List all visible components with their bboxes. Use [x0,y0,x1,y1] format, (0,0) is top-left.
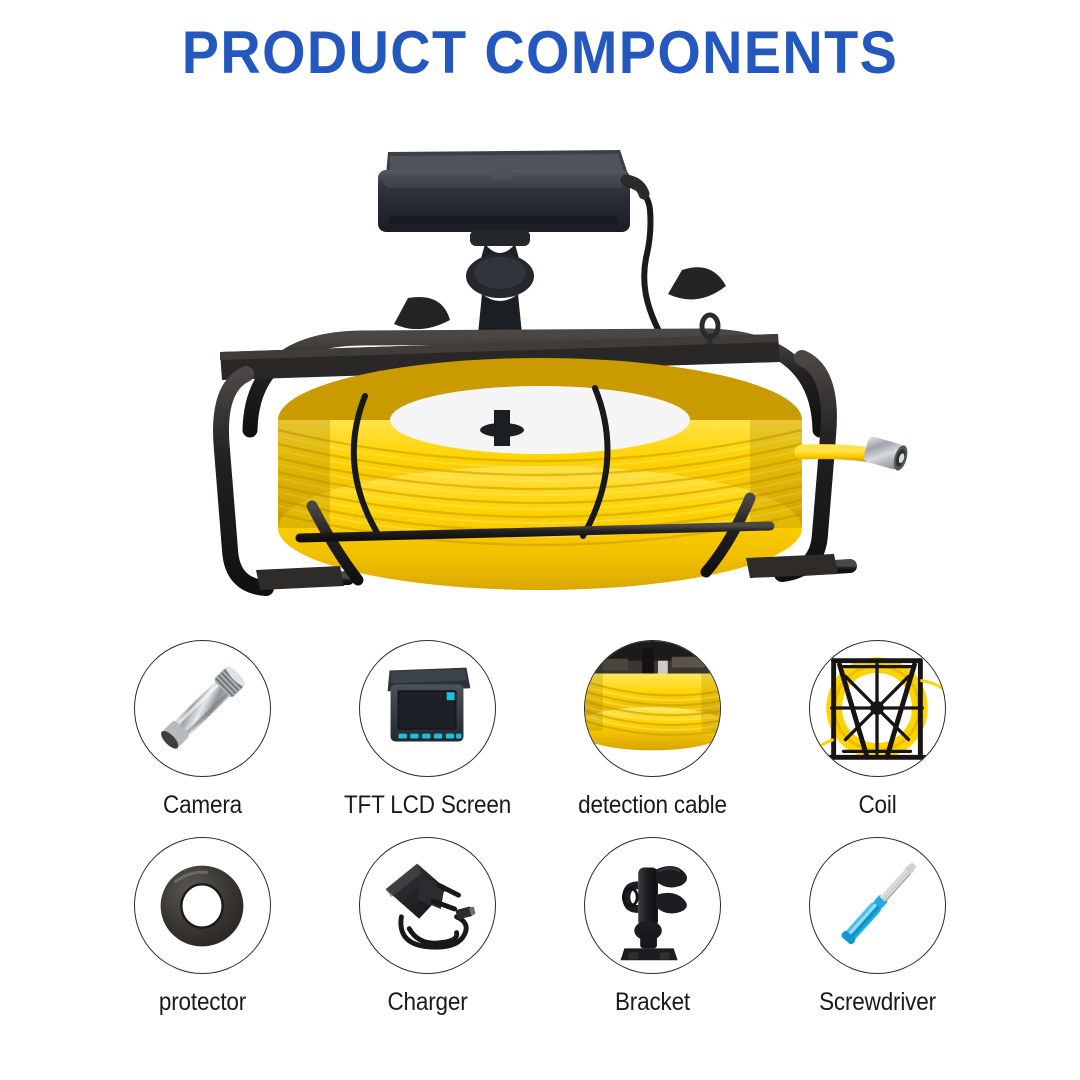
component-camera[interactable]: Camera [90,640,315,840]
screwdriver-circle[interactable] [809,837,946,974]
coil-circle[interactable] [809,640,946,777]
power-adapter-icon [360,838,495,973]
bracket-circle[interactable] [584,837,721,974]
component-protector[interactable]: protector [90,837,315,1037]
hero-illustration [150,130,940,620]
component-detection-cable[interactable]: detection cable [540,640,765,840]
protector-ring-icon [135,838,270,973]
component-label: Screwdriver [776,988,979,1017]
components-grid: Camera [90,640,990,1060]
camera-circle[interactable] [134,640,271,777]
protector-circle[interactable] [134,837,271,974]
screwdriver-icon [810,838,945,973]
coiled-cable-icon [585,641,720,776]
detection-cable-circle[interactable] [584,640,721,777]
page-title: PRODUCT COMPONENTS [38,18,1042,87]
hero-product-image [150,130,940,620]
component-label: Charger [326,988,529,1017]
component-label: TFT LCD Screen [326,791,529,820]
component-label: Coil [776,791,979,820]
cable-reel-icon [810,641,945,776]
component-label: detection cable [551,791,754,820]
mount-bracket-icon [585,838,720,973]
components-row-2: protector [90,837,990,1037]
component-coil[interactable]: Coil [765,640,990,840]
camera-head-icon [135,641,270,776]
component-charger[interactable]: Charger [315,837,540,1037]
charger-circle[interactable] [359,837,496,974]
tft-lcd-screen-circle[interactable] [359,640,496,777]
component-screwdriver[interactable]: Screwdriver [765,837,990,1037]
components-row-1: Camera [90,640,990,840]
tft-monitor-icon [360,641,495,776]
component-tft-lcd-screen[interactable]: TFT LCD Screen [315,640,540,840]
component-label: Camera [101,791,304,820]
component-bracket[interactable]: Bracket [540,837,765,1037]
component-label: protector [101,988,304,1017]
component-label: Bracket [551,988,754,1017]
handle-grips [394,267,726,329]
